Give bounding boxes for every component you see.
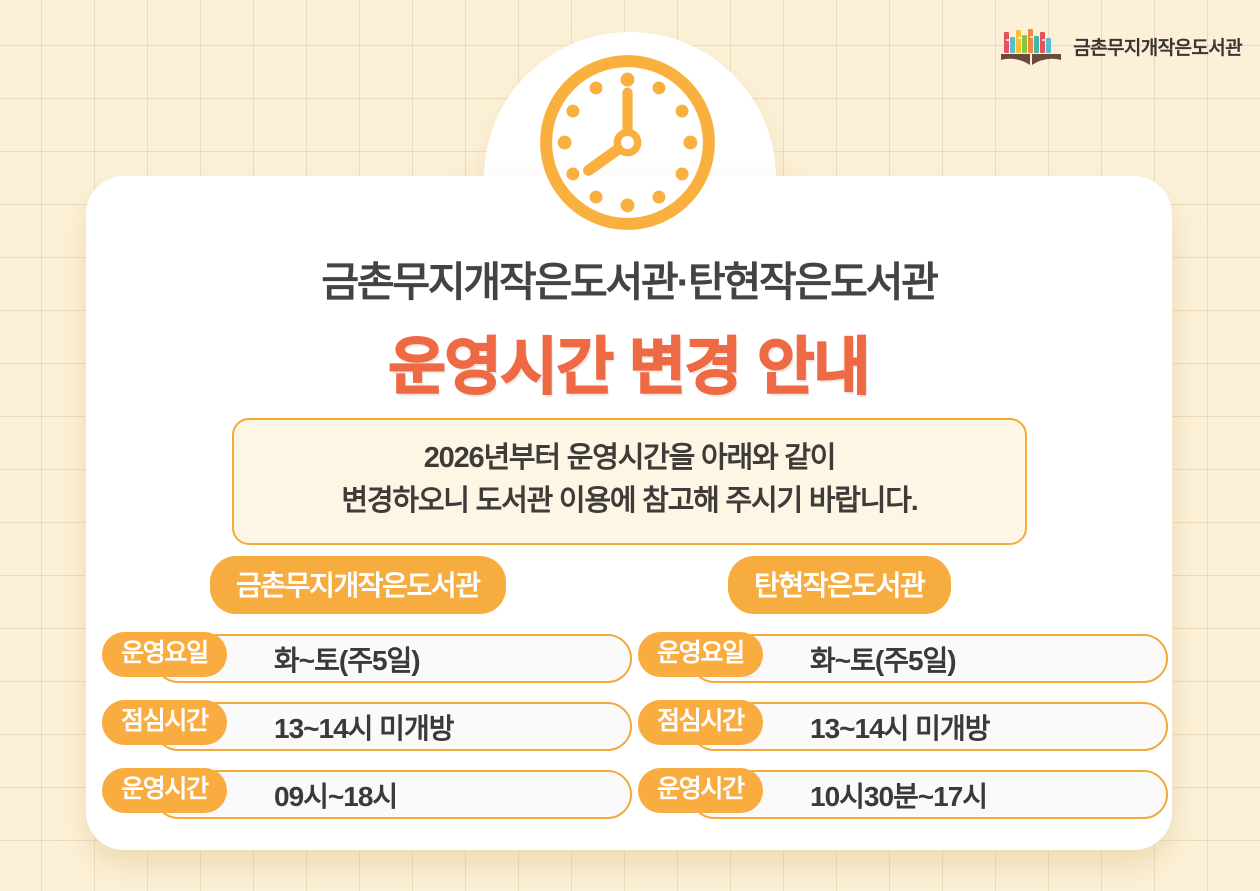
schedule-rows: 운영요일 화~토(주5일) 점심시간 13~14시 미개방 운영시간 09시~1… [102, 634, 632, 819]
main-card: 금촌무지개작은도서관·탄현작은도서관 운영시간 변경 안내 2026년부터 운영… [86, 176, 1172, 850]
row-value: 화~토(주5일) [810, 634, 956, 683]
library-column-tanhyeon: 탄현작은도서관 운영요일 화~토(주5일) 점심시간 13~14시 미개방 [638, 556, 1168, 838]
clock-icon [535, 50, 720, 235]
row-label: 점심시간 [102, 700, 227, 745]
schedule-row: 운영요일 화~토(주5일) [102, 634, 632, 683]
row-value: 13~14시 미개방 [810, 702, 989, 751]
row-label: 운영요일 [638, 632, 763, 677]
row-value: 13~14시 미개방 [274, 702, 453, 751]
schedule-row: 점심시간 13~14시 미개방 [102, 702, 632, 751]
schedule-row: 운영시간 09시~18시 [102, 770, 632, 819]
schedule-row: 운영시간 10시30분~17시 [638, 770, 1168, 819]
schedule-rows: 운영요일 화~토(주5일) 점심시간 13~14시 미개방 운영시간 10시30… [638, 634, 1168, 819]
library-name-pill: 금촌무지개작은도서관 [210, 556, 506, 614]
schedule-row: 점심시간 13~14시 미개방 [638, 702, 1168, 751]
library-name-pill: 탄현작은도서관 [728, 556, 951, 614]
row-label: 운영시간 [638, 768, 763, 813]
brand-logo: 금촌무지개작은도서관 [1000, 26, 1242, 66]
brand-name: 금촌무지개작은도서관 [1073, 33, 1242, 60]
notice-line: 변경하오니 도서관 이용에 참고해 주시기 바랍니다. [244, 480, 1015, 523]
notice-box: 2026년부터 운영시간을 아래와 같이 변경하오니 도서관 이용에 참고해 주… [232, 418, 1027, 545]
library-books-logo-icon [1000, 26, 1062, 66]
row-value: 09시~18시 [274, 770, 397, 819]
page-subtitle: 금촌무지개작은도서관·탄현작은도서관 [86, 248, 1172, 308]
page-title: 운영시간 변경 안내 [86, 316, 1172, 406]
poster-root: 금촌무지개작은도서관 금촌무지개작은도서관·탄현작은도서관 운영시간 변경 안내 [0, 0, 1260, 891]
row-label: 운영시간 [102, 768, 227, 813]
schedule-row: 운영요일 화~토(주5일) [638, 634, 1168, 683]
library-column-geumchon: 금촌무지개작은도서관 운영요일 화~토(주5일) 점심시간 13~14시 미개방 [102, 556, 632, 838]
notice-line: 2026년부터 운영시간을 아래와 같이 [244, 437, 1015, 480]
row-value: 10시30분~17시 [810, 770, 987, 819]
row-label: 운영요일 [102, 632, 227, 677]
row-label: 점심시간 [638, 700, 763, 745]
row-value: 화~토(주5일) [274, 634, 420, 683]
